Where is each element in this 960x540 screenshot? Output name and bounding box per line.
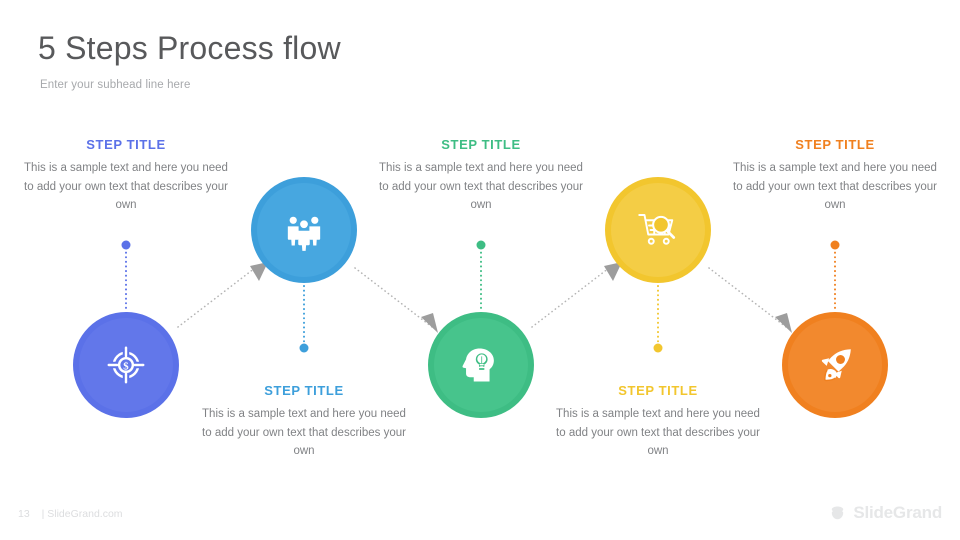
connector-1-2 [178, 268, 255, 327]
step-body-5: This is a sample text and here you need … [727, 159, 943, 215]
leader-dot-2 [300, 344, 309, 353]
step-title-4: STEP TITLE [550, 383, 766, 398]
step-text-1: STEP TITLE This is a sample text and her… [18, 137, 234, 215]
footer-site: | SlideGrand.com [42, 508, 123, 520]
slide-canvas: 5 Steps Process flow Enter your subhead … [0, 0, 960, 540]
step-body-2: This is a sample text and here you need … [196, 405, 412, 461]
rocket-icon [813, 343, 857, 387]
step-circle-2[interactable] [251, 177, 357, 283]
logo-text: SlideGrand [853, 503, 942, 523]
step-body-4: This is a sample text and here you need … [550, 405, 766, 461]
step-text-5: STEP TITLE This is a sample text and her… [727, 137, 943, 215]
svg-text:$: $ [123, 361, 129, 373]
head-lightbulb-icon [458, 342, 504, 388]
page-number: 13 [18, 508, 30, 520]
slidegrand-mark-icon [828, 504, 847, 523]
connector-3-4 [532, 268, 609, 327]
connector-4-5 [709, 268, 786, 327]
step-body-3: This is a sample text and here you need … [373, 159, 589, 215]
step-text-3: STEP TITLE This is a sample text and her… [373, 137, 589, 215]
arrowhead-4-5 [775, 313, 792, 333]
step-body-1: This is a sample text and here you need … [18, 159, 234, 215]
cart-search-icon [634, 206, 682, 254]
step-title-1: STEP TITLE [18, 137, 234, 152]
leader-dot-1 [122, 241, 131, 250]
step-circle-4[interactable] [605, 177, 711, 283]
footer-left: 13 | SlideGrand.com [18, 508, 123, 520]
step-text-2: STEP TITLE This is a sample text and her… [196, 383, 412, 461]
connector-2-3 [355, 268, 432, 327]
group-people-icon [281, 207, 327, 253]
leader-dot-3 [477, 241, 486, 250]
step-circle-5[interactable] [782, 312, 888, 418]
page-title: 5 Steps Process flow [38, 30, 341, 67]
step-title-5: STEP TITLE [727, 137, 943, 152]
step-title-3: STEP TITLE [373, 137, 589, 152]
target-dollar-icon: $ [103, 342, 149, 388]
step-circle-3[interactable] [428, 312, 534, 418]
leader-dot-4 [654, 344, 663, 353]
brand-logo: SlideGrand [828, 503, 942, 523]
leader-dot-5 [831, 241, 840, 250]
step-title-2: STEP TITLE [196, 383, 412, 398]
arrowhead-2-3 [421, 313, 438, 333]
page-subhead: Enter your subhead line here [40, 79, 190, 91]
step-text-4: STEP TITLE This is a sample text and her… [550, 383, 766, 461]
step-circle-1[interactable]: $ [73, 312, 179, 418]
